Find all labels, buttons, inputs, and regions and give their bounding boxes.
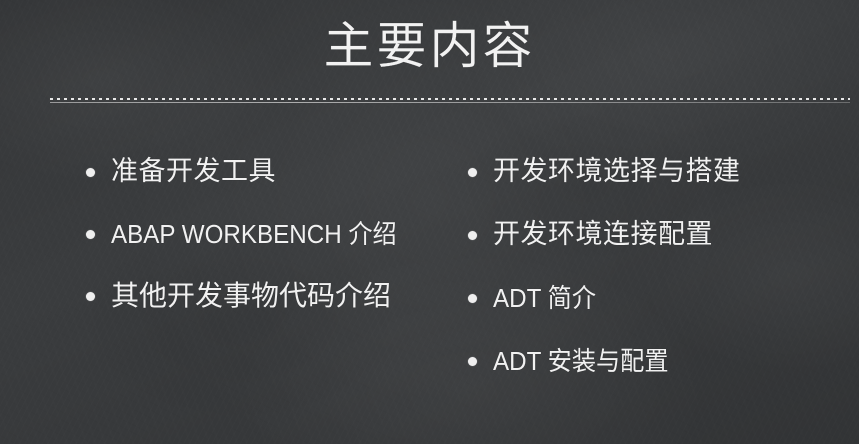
bullet-dot-icon [468, 294, 477, 303]
list-item[interactable]: 开发环境选择与搭建 [466, 150, 856, 194]
bullet-dot-icon [86, 292, 95, 301]
list-item[interactable]: ADT 安装与配置 [466, 339, 856, 383]
list-item-label: ADT 安装与配置 [493, 344, 669, 378]
bullet-column-right: 开发环境选择与搭建 开发环境连接配置 ADT 简介 ADT 安装与配置 [466, 150, 856, 402]
list-item[interactable]: ADT 简介 [466, 276, 856, 320]
list-item[interactable]: 开发环境连接配置 [466, 213, 856, 257]
list-item-label: ADT 简介 [493, 281, 596, 315]
divider-dotted-line [50, 98, 850, 100]
list-item-label: 开发环境选择与搭建 [493, 155, 741, 189]
list-item-label: 准备开发工具 [111, 155, 276, 189]
list-item-label: ABAP WORKBENCH 介绍 [111, 217, 397, 251]
bullet-dot-icon [468, 357, 477, 366]
slide-title: 主要内容 [0, 16, 859, 76]
bullet-dot-icon [468, 231, 477, 240]
content-columns: 准备开发工具 ABAP WORKBENCH 介绍 其他开发事物代码介绍 开发环境… [0, 150, 859, 440]
title-divider [50, 98, 850, 103]
bullet-dot-icon [86, 230, 95, 239]
divider-solid-line [50, 102, 850, 103]
list-item[interactable]: ABAP WORKBENCH 介绍 [84, 212, 444, 256]
bullet-dot-icon [86, 168, 95, 177]
slide-canvas: 主要内容 准备开发工具 ABAP WORKBENCH 介绍 其他开发事物代码介绍… [0, 0, 859, 444]
list-item[interactable]: 其他开发事物代码介绍 [84, 274, 444, 318]
list-item[interactable]: 准备开发工具 [84, 150, 444, 194]
list-item-label: 其他开发事物代码介绍 [111, 279, 391, 313]
bullet-dot-icon [468, 168, 477, 177]
list-item-label: 开发环境连接配置 [493, 218, 713, 252]
bullet-column-left: 准备开发工具 ABAP WORKBENCH 介绍 其他开发事物代码介绍 [84, 150, 444, 336]
